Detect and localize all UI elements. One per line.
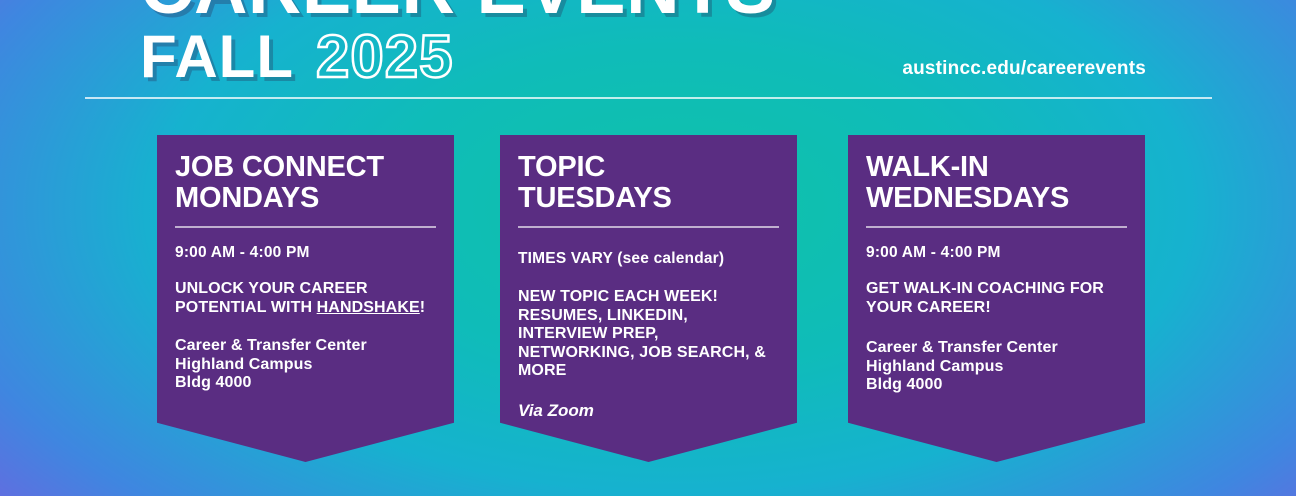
event-card-location-line3: Bldg 4000 — [866, 376, 1127, 395]
event-card-description: NEW TOPIC EACH WEEK! RESUMES, LINKEDIN, … — [518, 288, 779, 381]
poster-title-sub: FALL2025 — [140, 24, 776, 106]
event-card-location: Career & Transfer Center Highland Campus… — [175, 337, 436, 393]
event-card-time: 9:00 AM - 4:00 PM — [866, 244, 1127, 262]
event-card-walk-in-wednesdays[interactable]: WALK-IN WEDNESDAYS 9:00 AM - 4:00 PM GET… — [848, 135, 1145, 462]
event-card-divider — [866, 226, 1127, 228]
event-cards-container: JOB CONNECT MONDAYS 9:00 AM - 4:00 PM UN… — [0, 135, 1296, 465]
event-card-note: Via Zoom — [518, 401, 779, 421]
event-card-location: Career & Transfer Center Highland Campus… — [866, 339, 1127, 395]
poster-title-main: CAREER EVENTS — [140, 0, 776, 24]
event-card-time: 9:00 AM - 4:00 PM — [175, 244, 436, 262]
event-card-location-line1: Career & Transfer Center — [866, 339, 1127, 358]
event-card-location-line3: Bldg 4000 — [175, 374, 436, 393]
event-card-location-line1: Career & Transfer Center — [175, 337, 436, 356]
poster-season-label: FALL — [140, 23, 294, 90]
event-card-description-suffix: ! — [420, 299, 425, 316]
website-url-link[interactable]: austincc.edu/careerevents — [902, 58, 1146, 80]
event-card-time: TIMES VARY (see calendar) — [518, 250, 779, 268]
poster-header: CAREER EVENTS FALL2025 austincc.edu/care… — [0, 0, 1296, 112]
event-card-title-line1: TOPIC — [518, 152, 779, 183]
event-card-description: UNLOCK YOUR CAREER POTENTIAL WITH HANDSH… — [175, 280, 436, 317]
header-divider-rule — [85, 97, 1212, 99]
event-card-location-line2: Highland Campus — [866, 358, 1127, 377]
event-card-topic-tuesdays[interactable]: TOPIC TUESDAYS TIMES VARY (see calendar)… — [500, 135, 797, 462]
poster-title-block: CAREER EVENTS FALL2025 — [140, 0, 776, 106]
handshake-link[interactable]: HANDSHAKE — [317, 299, 420, 316]
event-card-title: JOB CONNECT MONDAYS — [175, 135, 436, 214]
event-card-title: WALK-IN WEDNESDAYS — [866, 135, 1127, 214]
event-card-divider — [518, 226, 779, 228]
poster-year-label: 2025 — [316, 23, 453, 90]
event-card-job-connect-mondays[interactable]: JOB CONNECT MONDAYS 9:00 AM - 4:00 PM UN… — [157, 135, 454, 462]
event-card-title-line1: JOB CONNECT — [175, 152, 436, 183]
event-card-description-text: GET WALK-IN COACHING FOR YOUR CAREER! — [866, 280, 1104, 316]
event-card-title-line1: WALK-IN — [866, 152, 1127, 183]
event-card-title-line2: WEDNESDAYS — [866, 183, 1127, 214]
event-card-title-line2: TUESDAYS — [518, 183, 779, 214]
event-card-location-line2: Highland Campus — [175, 356, 436, 375]
event-card-description-text: NEW TOPIC EACH WEEK! RESUMES, LINKEDIN, … — [518, 288, 766, 379]
event-card-title: TOPIC TUESDAYS — [518, 135, 779, 214]
event-card-divider — [175, 226, 436, 228]
event-card-description: GET WALK-IN COACHING FOR YOUR CAREER! — [866, 280, 1127, 317]
event-card-title-line2: MONDAYS — [175, 183, 436, 214]
